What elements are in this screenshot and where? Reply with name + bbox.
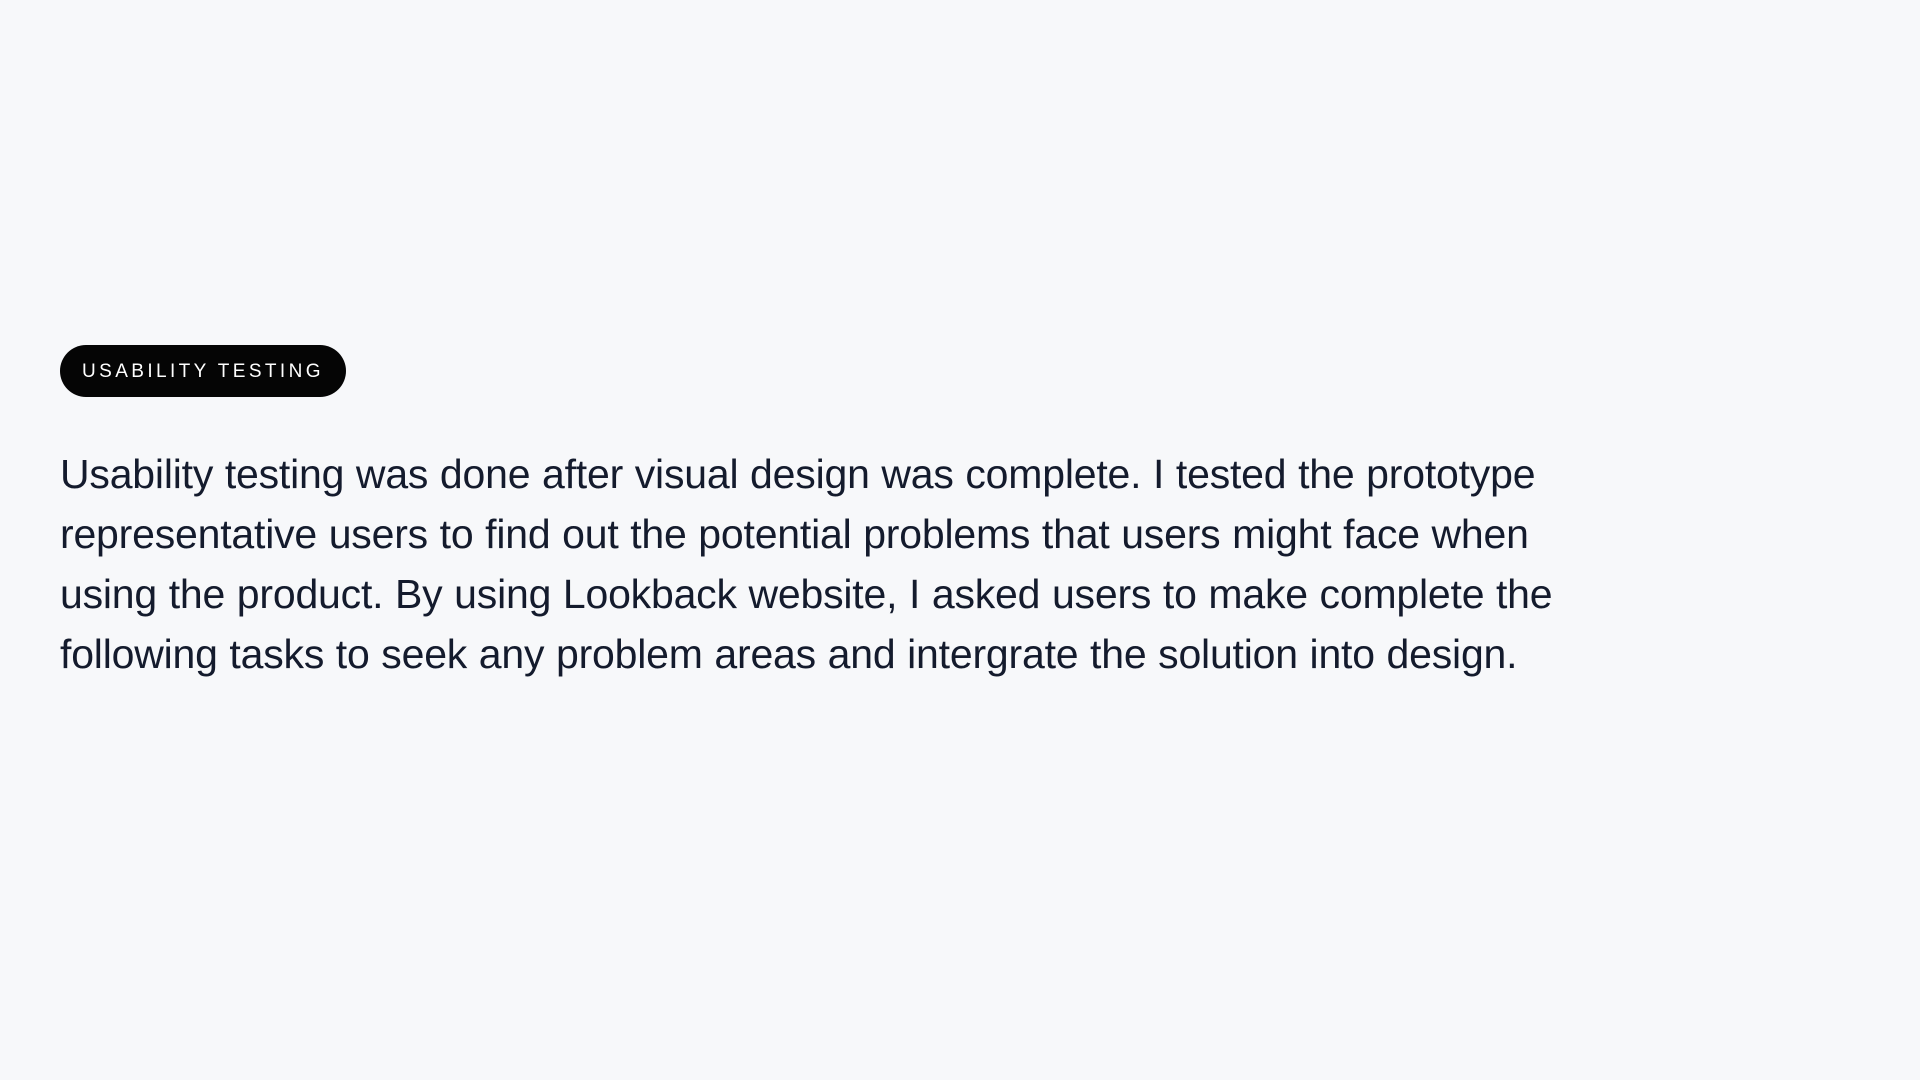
section-badge: USABILITY TESTING [60, 345, 346, 397]
section-badge-label: USABILITY TESTING [82, 362, 324, 381]
page-canvas: USABILITY TESTING Usability testing was … [0, 0, 1920, 1080]
section-body-text: Usability testing was done after visual … [60, 444, 1600, 684]
usability-testing-section: USABILITY TESTING Usability testing was … [60, 345, 1680, 684]
